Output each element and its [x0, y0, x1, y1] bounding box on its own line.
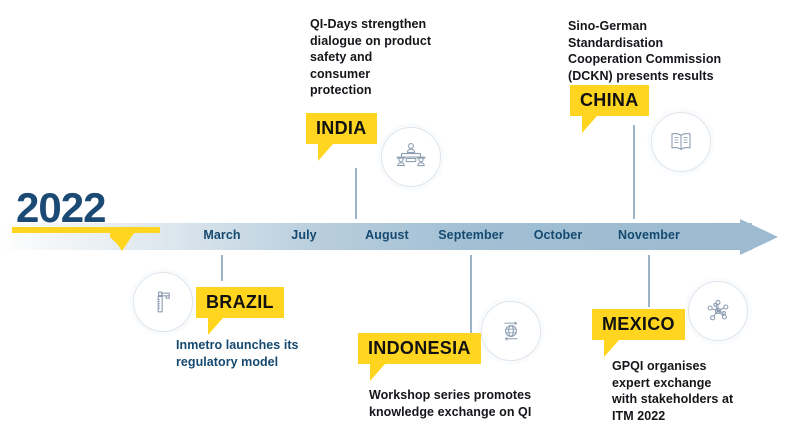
year-marker: 2022 [12, 186, 192, 246]
event-description-brazil: Inmetro launches itsregulatory model [176, 337, 346, 370]
country-tag-brazil: BRAZIL [196, 287, 284, 335]
connector-china [633, 125, 635, 219]
month-label-september: September [438, 228, 504, 242]
event-icon-indonesia [481, 301, 541, 361]
caliper-icon [149, 288, 177, 316]
month-label-march: March [203, 228, 240, 242]
country-tag-label-brazil: BRAZIL [196, 287, 284, 318]
event-icon-china [651, 112, 711, 172]
country-tag-china: CHINA [570, 85, 649, 133]
event-icon-brazil [133, 272, 193, 332]
event-description-china: Sino-GermanStandardisationCooperation Co… [568, 18, 748, 84]
event-description-indonesia: Workshop series promotesknowledge exchan… [369, 387, 579, 420]
event-icon-mexico [688, 281, 748, 341]
event-icon-india [381, 127, 441, 187]
timeline-infographic: March July August September October Nove… [0, 0, 800, 445]
event-description-india: QI-Days strengthendialogue on productsaf… [310, 16, 460, 99]
tag-tail-china [582, 116, 597, 133]
open-book-icon [666, 127, 696, 157]
country-tag-india: INDIA [306, 113, 377, 161]
tag-tail-indonesia [370, 364, 385, 381]
connector-brazil [221, 255, 223, 281]
network-nodes-icon [703, 296, 733, 326]
connector-india [355, 168, 357, 219]
meeting-table-icon [395, 141, 427, 173]
country-tag-label-china: CHINA [570, 85, 649, 116]
country-tag-label-india: INDIA [306, 113, 377, 144]
month-label-august: August [365, 228, 409, 242]
year-label: 2022 [16, 186, 105, 230]
connector-indonesia [470, 255, 472, 341]
connector-mexico [648, 255, 650, 307]
tag-tail-brazil [208, 318, 223, 335]
globe-exchange-icon [496, 316, 526, 346]
country-tag-mexico: MEXICO [592, 309, 685, 357]
month-label-july: July [291, 228, 316, 242]
year-flag-icon [12, 227, 192, 257]
country-tag-label-mexico: MEXICO [592, 309, 685, 340]
month-label-october: October [534, 228, 583, 242]
event-description-mexico: GPQI organisesexpert exchangewith stakeh… [612, 358, 782, 424]
country-tag-label-indonesia: INDONESIA [358, 333, 481, 364]
month-label-november: November [618, 228, 680, 242]
tag-tail-mexico [604, 340, 619, 357]
country-tag-indonesia: INDONESIA [358, 333, 481, 381]
tag-tail-india [318, 144, 333, 161]
